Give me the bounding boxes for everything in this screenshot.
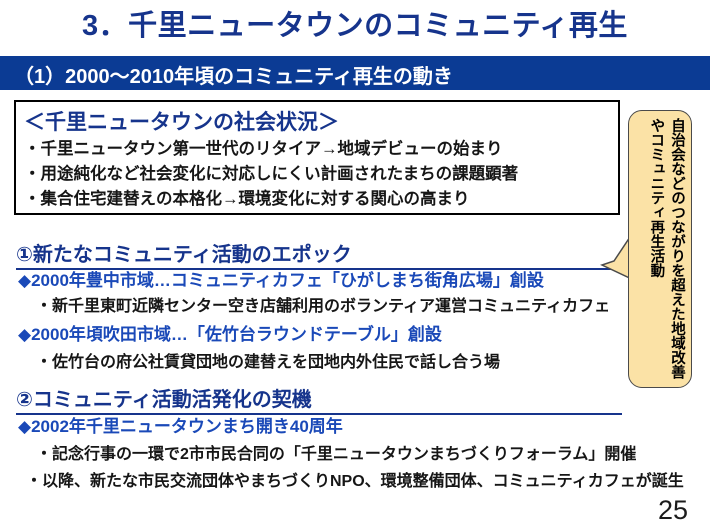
epoch-2-heading: ②コミュニティ活動活発化の契機: [16, 383, 622, 415]
callout-text: 自治会などのつながりを超えた地域改善やコミュニティ再生活動: [629, 111, 691, 387]
page-title: 3．千里ニュータウンのコミュニティ再生: [0, 2, 710, 44]
epoch-2-sub-item: ・以降、新たな市民交流団体やまちづくりNPO、環境整備団体、コミュニティカフェが…: [26, 467, 684, 491]
social-situation-box: ＜千里ニュータウンの社会状況＞ ・千里ニュータウン第一世代のリタイア→地域デビュ…: [14, 100, 620, 215]
section-header-label: （1）2000〜2010年頃のコミュニティ再生の動き: [14, 60, 453, 89]
epoch-1-sub-item: ・新千里東町近隣センター空き店舗利用のボランティア運営コミュニティカフェ: [36, 292, 610, 316]
social-situation-bullet: ・用途純化など社会変化に対応しにくい計画されたまちの課題顕著: [24, 160, 518, 184]
epoch-2-sub-item: ・記念行事の一環で2市市民合同の「千里ニュータウンまちづくりフォーラム」開催: [36, 440, 636, 464]
callout-box: 自治会などのつながりを超えた地域改善やコミュニティ再生活動: [628, 110, 692, 388]
section-header-bar: （1）2000〜2010年頃のコミュニティ再生の動き: [0, 56, 710, 90]
page-number: 25: [658, 495, 688, 526]
epoch-1-diamond-item: ◆2000年豊中市域…コミュニティカフェ「ひがしまち街角広場」創設: [18, 266, 544, 291]
social-situation-bullet: ・千里ニュータウン第一世代のリタイア→地域デビューの始まり: [24, 135, 503, 159]
epoch-2-diamond-item: ◆2002年千里ニュータウンまち開き40周年: [18, 412, 343, 437]
epoch-1-sub-item: ・佐竹台の府公社賃貸団地の建替えを団地内外住民で話し合う場: [36, 348, 500, 372]
slide-canvas: 3．千里ニュータウンのコミュニティ再生 （1）2000〜2010年頃のコミュニテ…: [0, 0, 710, 530]
epoch-1-diamond-item: ◆2000年頃吹田市域…「佐竹台ラウンドテーブル」創設: [18, 320, 442, 345]
social-situation-heading: ＜千里ニュータウンの社会状況＞: [24, 106, 339, 136]
social-situation-bullet: ・集合住宅建替えの本格化→環境変化に対する関心の高まり: [24, 185, 470, 209]
